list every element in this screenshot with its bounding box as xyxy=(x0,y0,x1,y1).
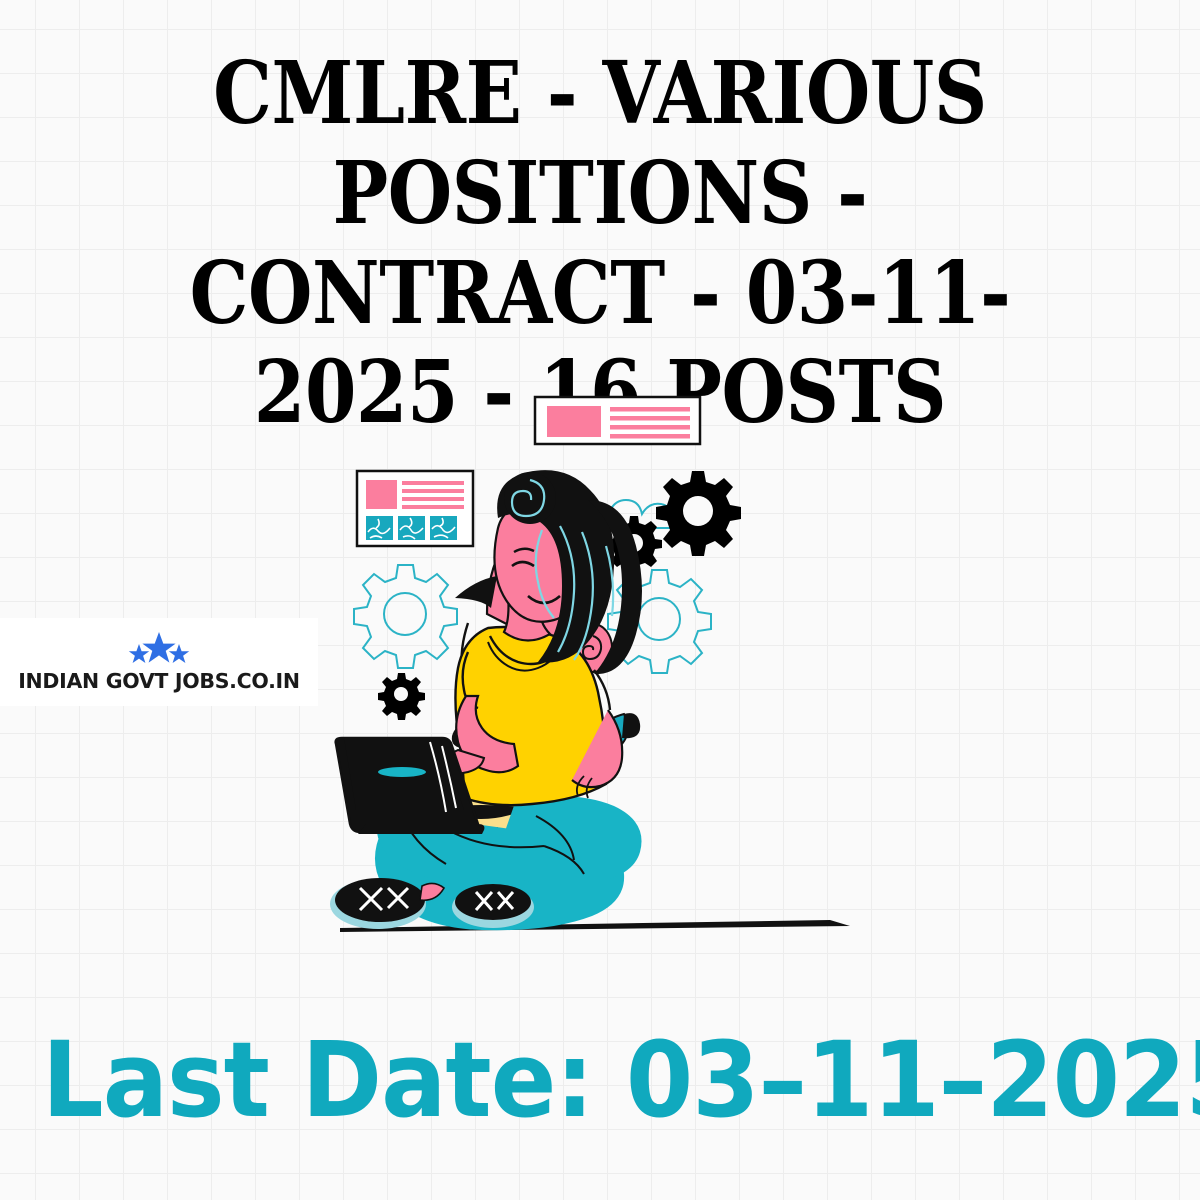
job-poster: CMLRE - VARIOUS POSITIONS - CONTRACT - 0… xyxy=(0,0,1200,1200)
logo-text: INDIAN GOVT JOBS.CO.IN xyxy=(18,669,300,693)
hero-illustration xyxy=(330,380,890,980)
gear-black-large-icon xyxy=(656,471,741,556)
document-card-left-icon xyxy=(357,471,473,546)
last-date-text: Last Date: 03–11–2025 xyxy=(42,1028,1158,1132)
illustration-svg xyxy=(330,380,890,980)
site-logo: INDIAN GOVT JOBS.CO.IN xyxy=(0,618,318,706)
gear-outline-left-icon xyxy=(354,565,457,668)
three-stars-icon xyxy=(109,632,209,666)
document-card-top-icon xyxy=(535,397,700,444)
last-date-banner: Last Date: 03–11–2025 xyxy=(0,1028,1200,1132)
floor-line xyxy=(340,920,850,932)
gear-black-tiny-icon xyxy=(378,673,425,720)
